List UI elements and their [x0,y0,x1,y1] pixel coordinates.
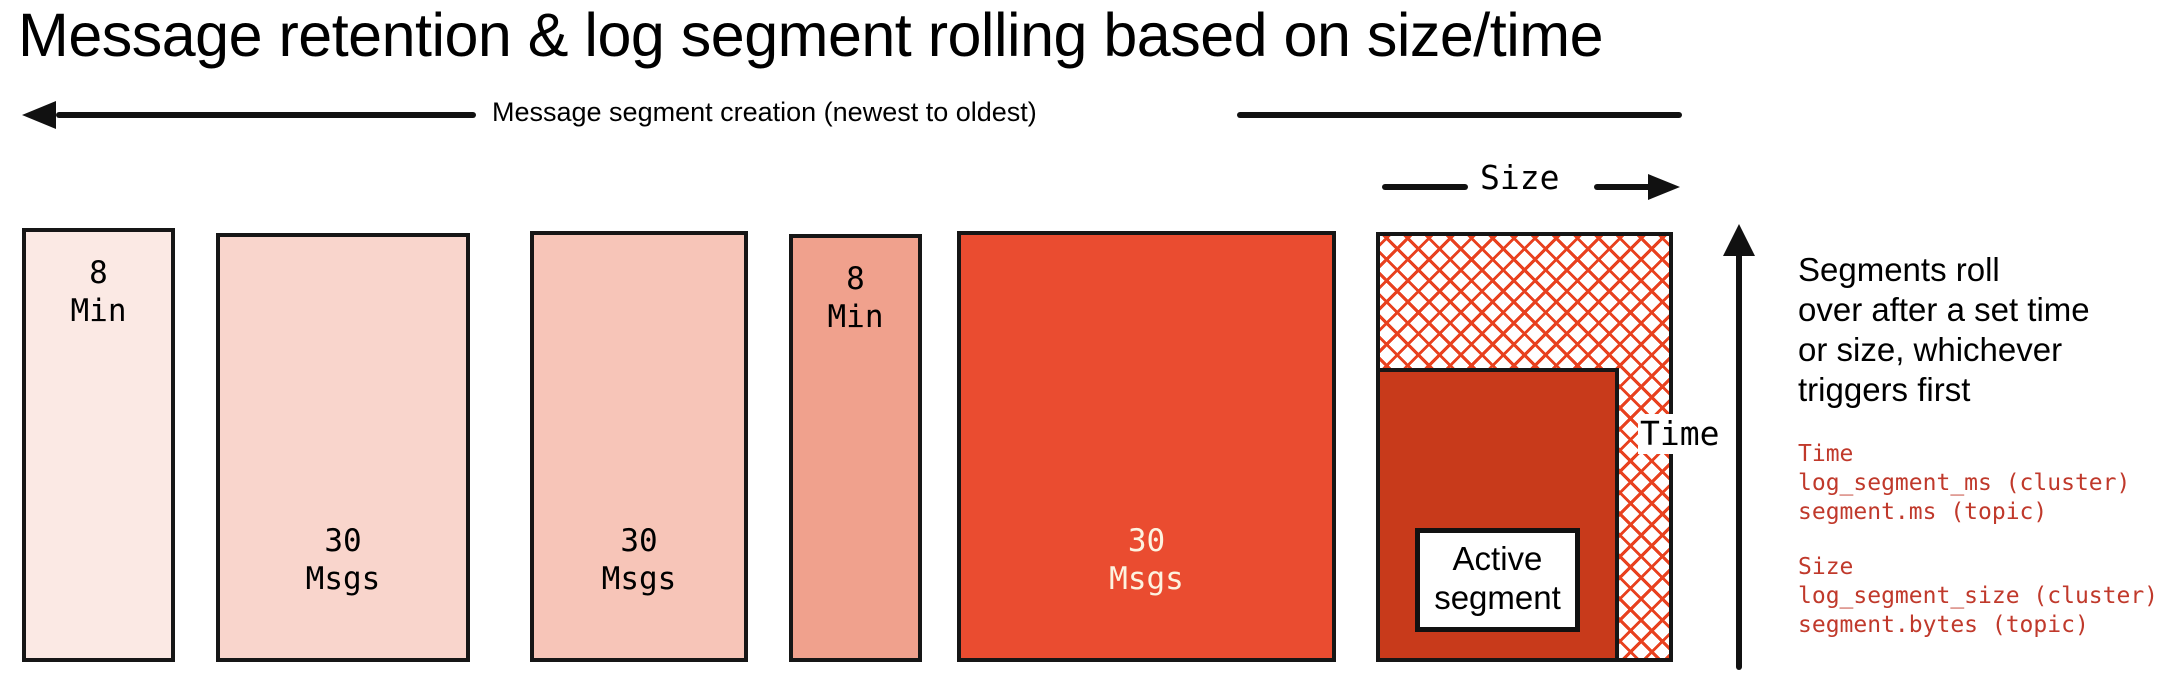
size-arrow-right-line [1594,184,1652,190]
size-arrow-left-line [1382,184,1468,190]
arrow-left-head-icon [22,101,56,129]
page-title: Message retention & log segment rolling … [18,2,1603,68]
size-arrow-label: Size [1480,161,1559,195]
notes-description: Segments roll over after a set time or s… [1798,250,2171,410]
log-segment-4-label: 8 Min [828,260,884,336]
diagram-canvas: Message retention & log segment rolling … [0,0,2171,674]
log-segment-1-label: 8 Min [71,254,127,330]
time-axis-label: Time [1638,414,1721,454]
log-segment-4: 8 Min [789,234,922,662]
log-segment-2-label: 30 Msgs [306,522,381,598]
config-time-settings: Time log_segment_ms (cluster) segment.ms… [1798,440,2171,527]
creation-direction-arrow: Message segment creation (newest to olde… [22,98,1682,134]
arrow-right-head-icon [1648,174,1680,200]
active-segment-fill: Active segment [1376,368,1619,662]
active-segment-label: Active segment [1415,528,1580,632]
arrow-right-line [1237,112,1682,118]
size-direction-arrow: Size [1382,172,1682,206]
log-segment-1: 8 Min [22,228,175,662]
config-size-settings: Size log_segment_size (cluster) segment.… [1798,553,2171,640]
creation-arrow-label: Message segment creation (newest to olde… [492,96,1037,128]
log-segment-5-label: 30 Msgs [1109,522,1184,598]
log-segment-5: 30 Msgs [957,231,1336,662]
log-segment-3: 30 Msgs [530,231,748,662]
time-axis-line [1736,250,1742,670]
arrow-left-line [56,112,476,118]
log-segment-3-label: 30 Msgs [602,522,677,598]
notes-panel: Segments roll over after a set time or s… [1798,250,2171,640]
log-segment-2: 30 Msgs [216,233,470,662]
